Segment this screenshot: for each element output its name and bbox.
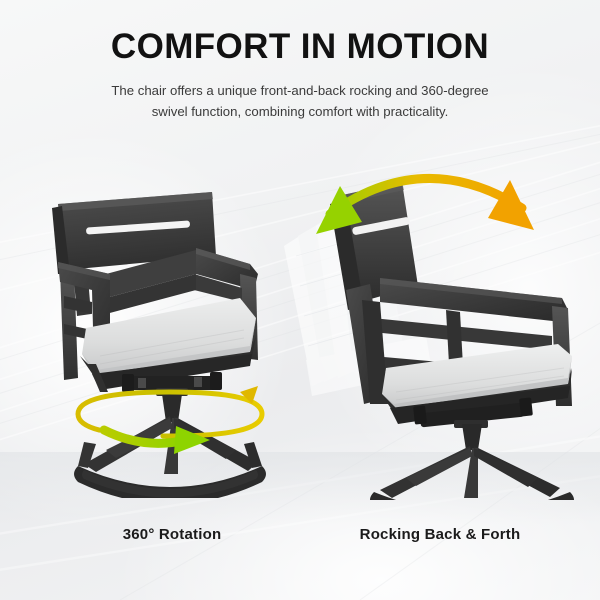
right-chair-graphic <box>276 160 600 500</box>
caption-rotation: 360° Rotation <box>42 526 302 543</box>
left-chair-graphic <box>44 178 294 498</box>
product-feature-graphic: COMFORT IN MOTION The chair offers a uni… <box>0 0 600 600</box>
caption-rocking: Rocking Back & Forth <box>300 526 580 543</box>
description-text: The chair offers a unique front-and-back… <box>104 80 496 123</box>
pedestal-base <box>370 424 574 500</box>
page-title: COMFORT IN MOTION <box>0 28 600 67</box>
